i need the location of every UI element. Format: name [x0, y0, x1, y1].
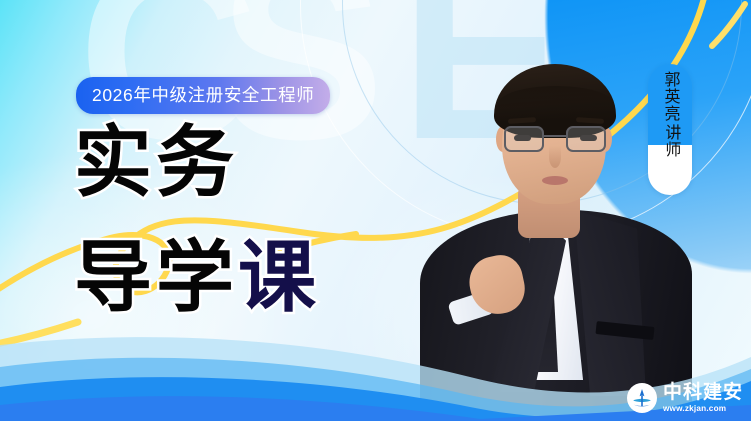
- instructor-name: 郭英亮: [659, 71, 680, 122]
- page-title-line2-a: 导学: [74, 233, 238, 321]
- instructor-role: 讲师: [660, 124, 681, 158]
- mountain-peak-icon: [627, 383, 657, 413]
- page-title-line2-b: 课: [238, 233, 320, 321]
- logo-website-url: www.zkjan.com: [663, 405, 743, 413]
- certification-badge: 2026年中级注册安全工程师: [76, 77, 330, 114]
- page-title-line1: 实务: [74, 127, 238, 199]
- instructor-badge: 郭英亮 讲师: [648, 64, 692, 195]
- brand-logo[interactable]: 中科建安 www.zkjan.com: [627, 383, 743, 413]
- page-title-line2: 导学课: [74, 242, 320, 314]
- logo-brand-name: 中科建安: [663, 383, 743, 402]
- course-banner: C S E: [0, 0, 751, 421]
